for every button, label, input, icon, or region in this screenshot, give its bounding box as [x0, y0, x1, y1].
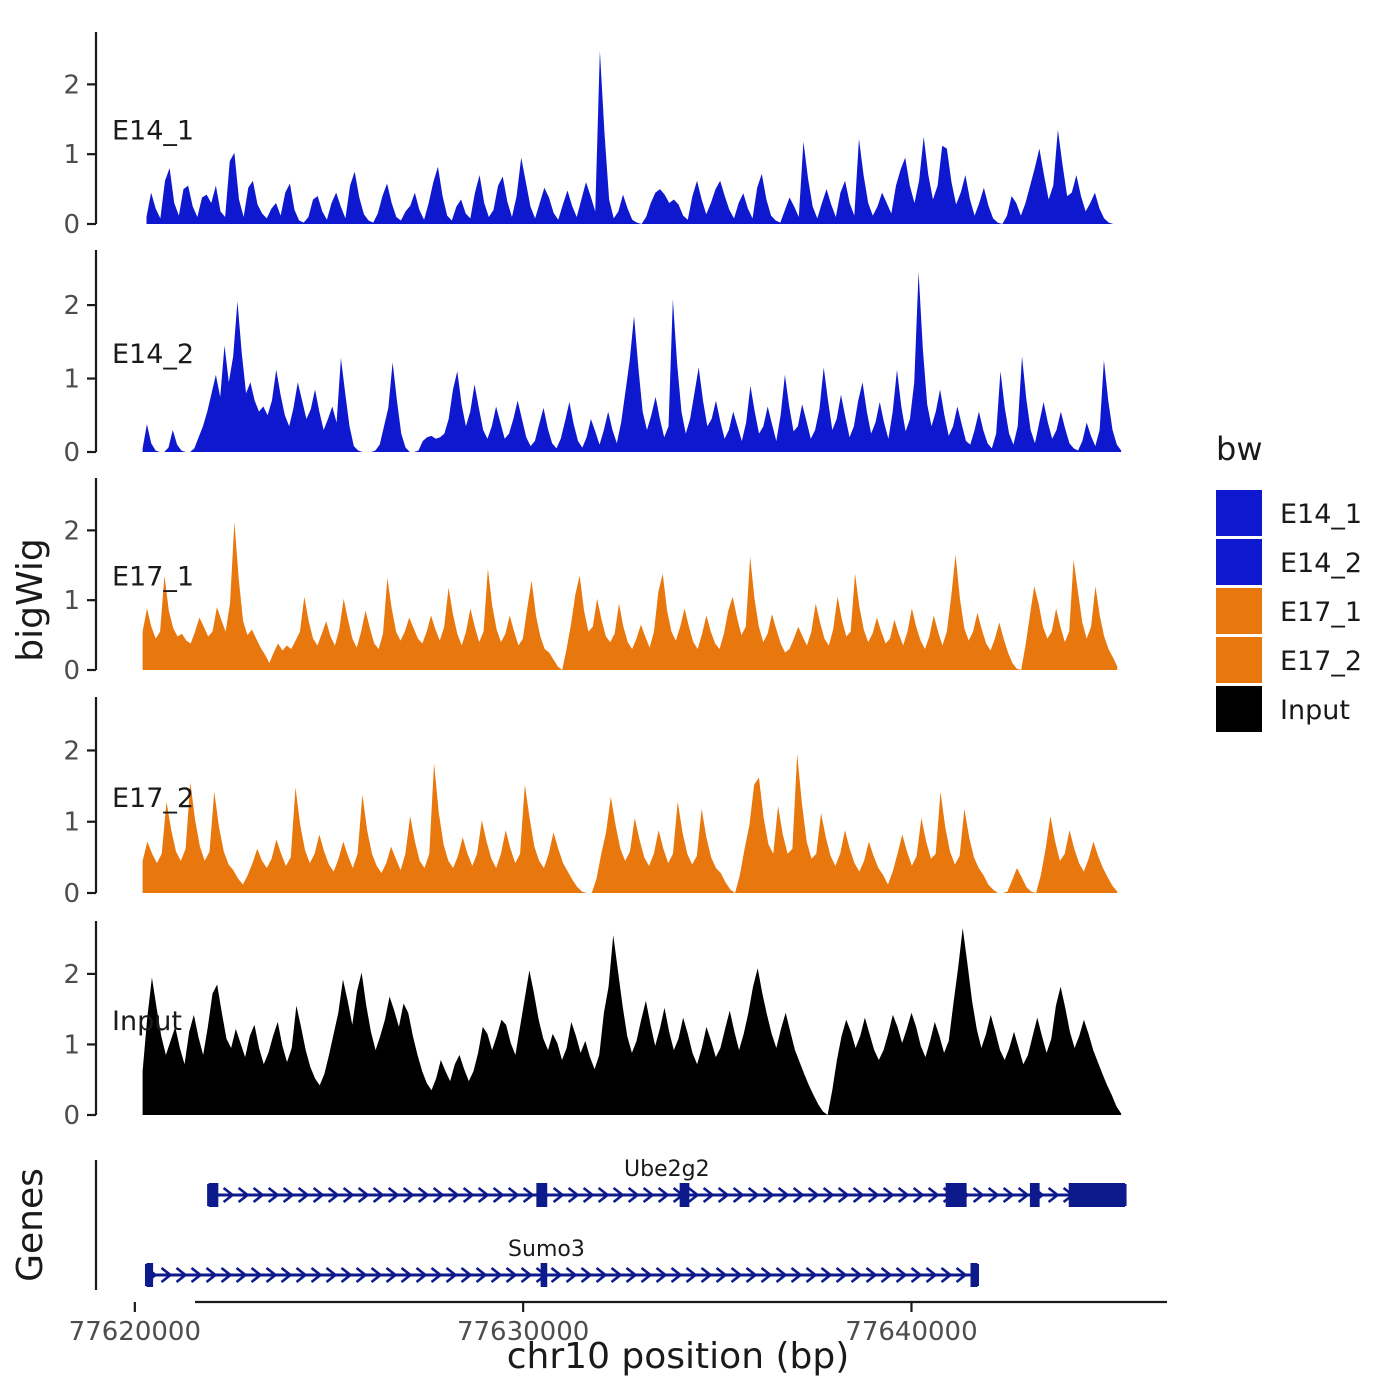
gene-exon-ube2g2	[680, 1183, 690, 1207]
gene-name-sumo3: Sumo3	[508, 1237, 585, 1262]
legend-label-e17_1: E17_1	[1280, 597, 1362, 628]
legend-label-e17_2: E17_2	[1280, 646, 1362, 677]
legend-swatch-e14_2	[1216, 539, 1262, 585]
y-tick-label-e14_2-0: 0	[63, 438, 80, 468]
legend-swatch-e17_1	[1216, 588, 1262, 634]
gene-exon-ube2g2	[209, 1183, 219, 1207]
x-tick-label-77640000: 77640000	[845, 1317, 977, 1347]
y-tick-label-input-1: 1	[63, 1030, 80, 1060]
gene-exon-sumo3	[541, 1263, 548, 1287]
x-axis-title: chr10 position (bp)	[507, 1336, 850, 1377]
genes-axis-title: Genes	[10, 1168, 51, 1282]
y-tick-label-e14_1-2: 2	[63, 70, 80, 100]
y-tick-label-e14_1-1: 1	[63, 140, 80, 170]
y-tick-label-input-0: 0	[63, 1101, 80, 1131]
gene-exon-ube2g2	[1069, 1183, 1125, 1207]
y-tick-label-e17_2-2: 2	[63, 736, 80, 766]
figure-root: 012E14_1012E14_2012E17_1012E17_2012Input…	[0, 0, 1400, 1400]
y-tick-label-e17_1-0: 0	[63, 656, 80, 686]
y-tick-label-e14_2-1: 1	[63, 365, 80, 395]
panel-label-e14_2: E14_2	[112, 339, 194, 370]
legend-label-input: Input	[1280, 695, 1350, 726]
bigwig-axis-title: bigWig	[10, 538, 51, 661]
legend-swatch-e14_1	[1216, 490, 1262, 536]
gene-name-ube2g2: Ube2g2	[624, 1157, 710, 1182]
y-tick-label-e14_2-2: 2	[63, 291, 80, 321]
gene-exon-sumo3	[146, 1263, 153, 1287]
y-tick-label-e17_1-1: 1	[63, 586, 80, 616]
x-tick-label-77620000: 77620000	[69, 1317, 201, 1347]
y-tick-label-e14_1-0: 0	[63, 210, 80, 240]
gene-exon-ube2g2	[536, 1183, 547, 1207]
y-tick-label-e17_1-2: 2	[63, 516, 80, 546]
y-tick-label-e17_2-0: 0	[63, 879, 80, 909]
panel-label-e17_1: E17_1	[112, 562, 194, 593]
legend-title: bw	[1216, 430, 1262, 468]
gene-exon-ube2g2	[1030, 1183, 1040, 1207]
legend-label-e14_1: E14_1	[1280, 499, 1362, 530]
panel-label-input: Input	[112, 1006, 182, 1037]
y-tick-label-input-2: 2	[63, 960, 80, 990]
legend-label-e14_2: E14_2	[1280, 548, 1362, 579]
panel-label-e17_2: E17_2	[112, 783, 194, 814]
gene-exon-sumo3	[970, 1263, 977, 1287]
panel-label-e14_1: E14_1	[112, 116, 194, 147]
legend-swatch-e17_2	[1216, 637, 1262, 683]
y-tick-label-e17_2-1: 1	[63, 808, 80, 838]
genome-browser-figure: 012E14_1012E14_2012E17_1012E17_2012Input…	[0, 0, 1400, 1400]
legend-swatch-input	[1216, 686, 1262, 732]
gene-exon-ube2g2	[946, 1183, 967, 1207]
